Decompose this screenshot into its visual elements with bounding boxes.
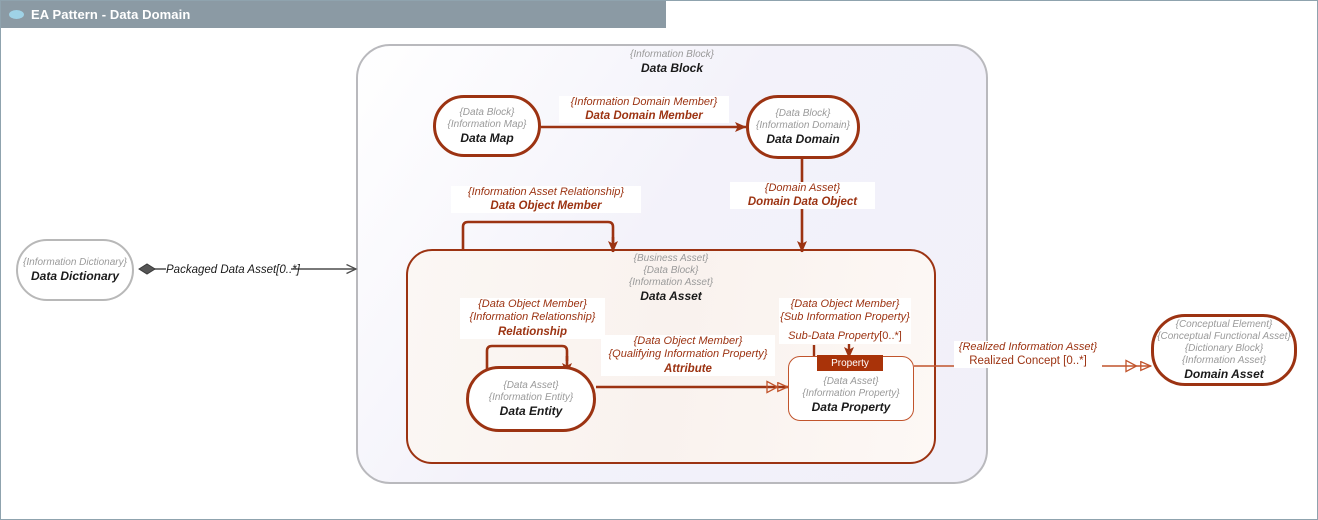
data-property-name: Data Property [812, 400, 891, 414]
relationship-stereotype-2: {Information Relationship} [460, 311, 605, 324]
data-entity-name: Data Entity [500, 404, 563, 418]
realized-concept-name: Realized Concept [0..*] [954, 354, 1102, 368]
domain-asset-stereotype-3: {Dictionary Block} [1185, 343, 1263, 355]
packaged-data-asset-name: Packaged Data Asset [166, 264, 276, 276]
node-data-domain[interactable]: {Data Block} {Information Domain} Data D… [746, 95, 860, 159]
edge-label-domain-data-object: {Domain Asset} Domain Data Object [730, 182, 875, 209]
edge-label-data-domain-member: {Information Domain Member} Data Domain … [559, 96, 729, 123]
node-domain-asset[interactable]: {Conceptual Element} {Conceptual Functio… [1151, 314, 1297, 386]
data-domain-stereotype-2: {Information Domain} [756, 120, 850, 132]
data-map-stereotype-2: {Information Map} [448, 119, 527, 131]
sub-data-property-name: Sub-Data Property [788, 330, 879, 342]
container-data-block-label: {Information Block} Data Block [356, 49, 988, 75]
relationship-stereotype-1: {Data Object Member} [460, 298, 605, 311]
data-map-name: Data Map [460, 131, 513, 145]
edge-label-attribute: {Data Object Member} {Qualifying Informa… [601, 335, 775, 376]
node-data-map[interactable]: {Data Block} {Information Map} Data Map [433, 95, 541, 157]
domain-data-object-name: Domain Data Object [730, 195, 875, 209]
data-property-stereotype-2: {Information Property} [802, 388, 899, 400]
edge-label-data-object-member: {Information Asset Relationship} Data Ob… [451, 186, 641, 213]
node-data-entity[interactable]: {Data Asset} {Information Entity} Data E… [466, 366, 596, 432]
data-domain-stereotype-1: {Data Block} [775, 108, 830, 120]
data-map-stereotype-1: {Data Block} [459, 107, 514, 119]
data-entity-stereotype-1: {Data Asset} [503, 380, 558, 392]
attribute-stereotype-2: {Qualifying Information Property} [601, 348, 775, 361]
data-domain-member-stereotype: {Information Domain Member} [559, 96, 729, 109]
edge-label-packaged-data-asset: Packaged Data Asset[0..*] [166, 259, 291, 279]
edge-label-sub-data-property: {Data Object Member} {Sub Information Pr… [779, 298, 911, 344]
window-titlebar: EA Pattern - Data Domain [1, 1, 666, 28]
relationship-name: Relationship [460, 325, 605, 339]
domain-asset-stereotype-4: {Information Asset} [1182, 355, 1266, 367]
data-asset-stereotype-2: {Data Block} [561, 265, 781, 277]
data-entity-stereotype-2: {Information Entity} [489, 392, 574, 404]
attribute-name: Attribute [601, 362, 775, 376]
data-block-stereotype: {Information Block} [356, 49, 988, 61]
data-object-member-name: Data Object Member [451, 199, 641, 213]
sub-data-property-multiplicity: [0..*] [879, 330, 902, 342]
domain-asset-stereotype-2: {Conceptual Functional Asset} [1157, 331, 1291, 343]
domain-asset-stereotype-1: {Conceptual Element} [1176, 319, 1273, 331]
data-domain-member-name: Data Domain Member [559, 109, 729, 123]
sub-data-property-stereotype-2: {Sub Information Property} [779, 311, 911, 324]
node-data-dictionary[interactable]: {Information Dictionary} Data Dictionary [16, 239, 134, 301]
sub-data-property-name-row: Sub-Data Property[0..*] [779, 325, 911, 345]
data-asset-stereotype-1: {Business Asset} [561, 253, 781, 265]
container-data-asset-label: {Business Asset} {Data Block} {Informati… [561, 253, 781, 303]
attribute-stereotype-1: {Data Object Member} [601, 335, 775, 348]
data-property-stereotype-1: {Data Asset} [823, 376, 878, 388]
window-title: EA Pattern - Data Domain [31, 7, 190, 22]
data-object-member-stereotype: {Information Asset Relationship} [451, 186, 641, 199]
sub-data-property-stereotype-1: {Data Object Member} [779, 298, 911, 311]
data-block-name: Data Block [356, 61, 988, 75]
edge-label-realized-concept: {Realized Information Asset} Realized Co… [954, 341, 1102, 368]
data-domain-name: Data Domain [766, 132, 839, 146]
domain-asset-name: Domain Asset [1184, 367, 1264, 381]
realized-concept-stereotype: {Realized Information Asset} [954, 341, 1102, 354]
data-asset-stereotype-3: {Information Asset} [561, 277, 781, 289]
edge-label-relationship: {Data Object Member} {Information Relati… [460, 298, 605, 339]
data-dictionary-stereotype: {Information Dictionary} [23, 257, 127, 269]
diagram-canvas: EA Pattern - Data Domain {Information Bl… [0, 0, 1318, 520]
ellipse-icon [9, 10, 24, 19]
packaged-data-asset-multiplicity: [0..*] [276, 264, 300, 276]
data-dictionary-name: Data Dictionary [31, 269, 119, 283]
domain-data-object-stereotype: {Domain Asset} [730, 182, 875, 195]
data-property-banner: Property [817, 355, 883, 371]
